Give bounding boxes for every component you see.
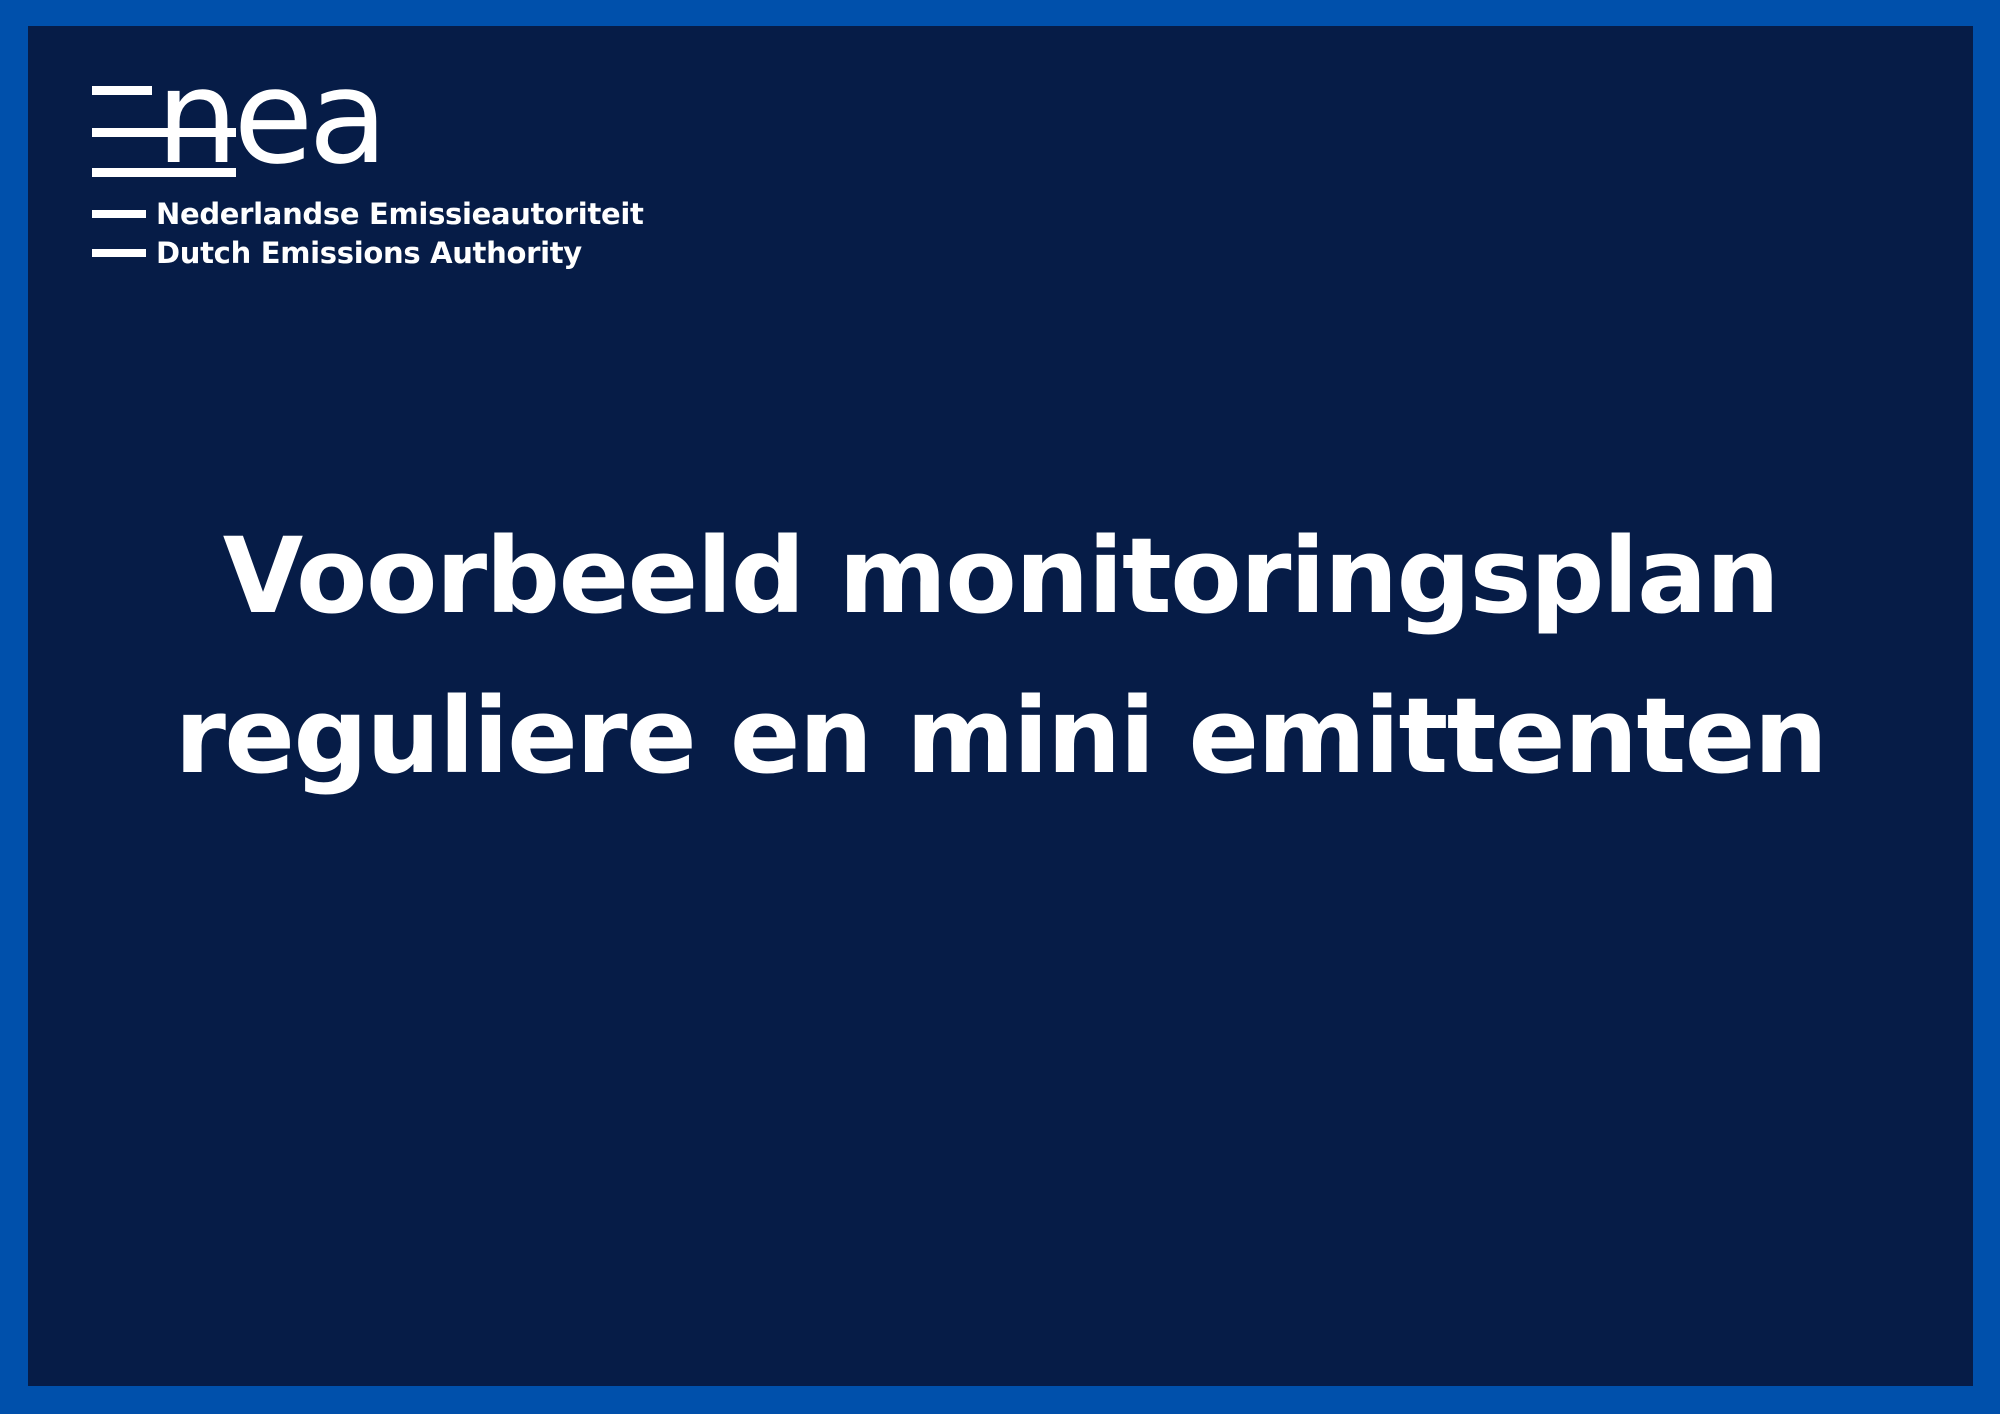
nea-logo-mark: nea (64, 34, 484, 194)
page-title: Voorbeeld monitoringsplan reguliere en m… (28, 496, 1973, 816)
nea-logo: nea Nederlandse Emissieautoriteit Dutch … (64, 34, 524, 304)
slide-panel: nea Nederlandse Emissieautoriteit Dutch … (28, 26, 1973, 1386)
page-title-line-1: Voorbeeld monitoringsplan (28, 496, 1973, 656)
subtitle-dash-en-icon (92, 249, 146, 257)
page-title-line-2: reguliere en mini emittenten (28, 656, 1973, 816)
title-slide: nea Nederlandse Emissieautoriteit Dutch … (0, 0, 2000, 1414)
subtitle-dash-nl-icon (92, 210, 146, 218)
logo-subtitle-en-row: Dutch Emissions Authority (64, 233, 524, 272)
logo-subtitle-en: Dutch Emissions Authority (156, 236, 582, 270)
logo-subtitle-nl-row: Nederlandse Emissieautoriteit (64, 194, 524, 233)
logo-bar-top-icon (92, 86, 152, 95)
nea-wordmark: nea (156, 52, 383, 182)
logo-subtitle-nl: Nederlandse Emissieautoriteit (156, 197, 644, 231)
